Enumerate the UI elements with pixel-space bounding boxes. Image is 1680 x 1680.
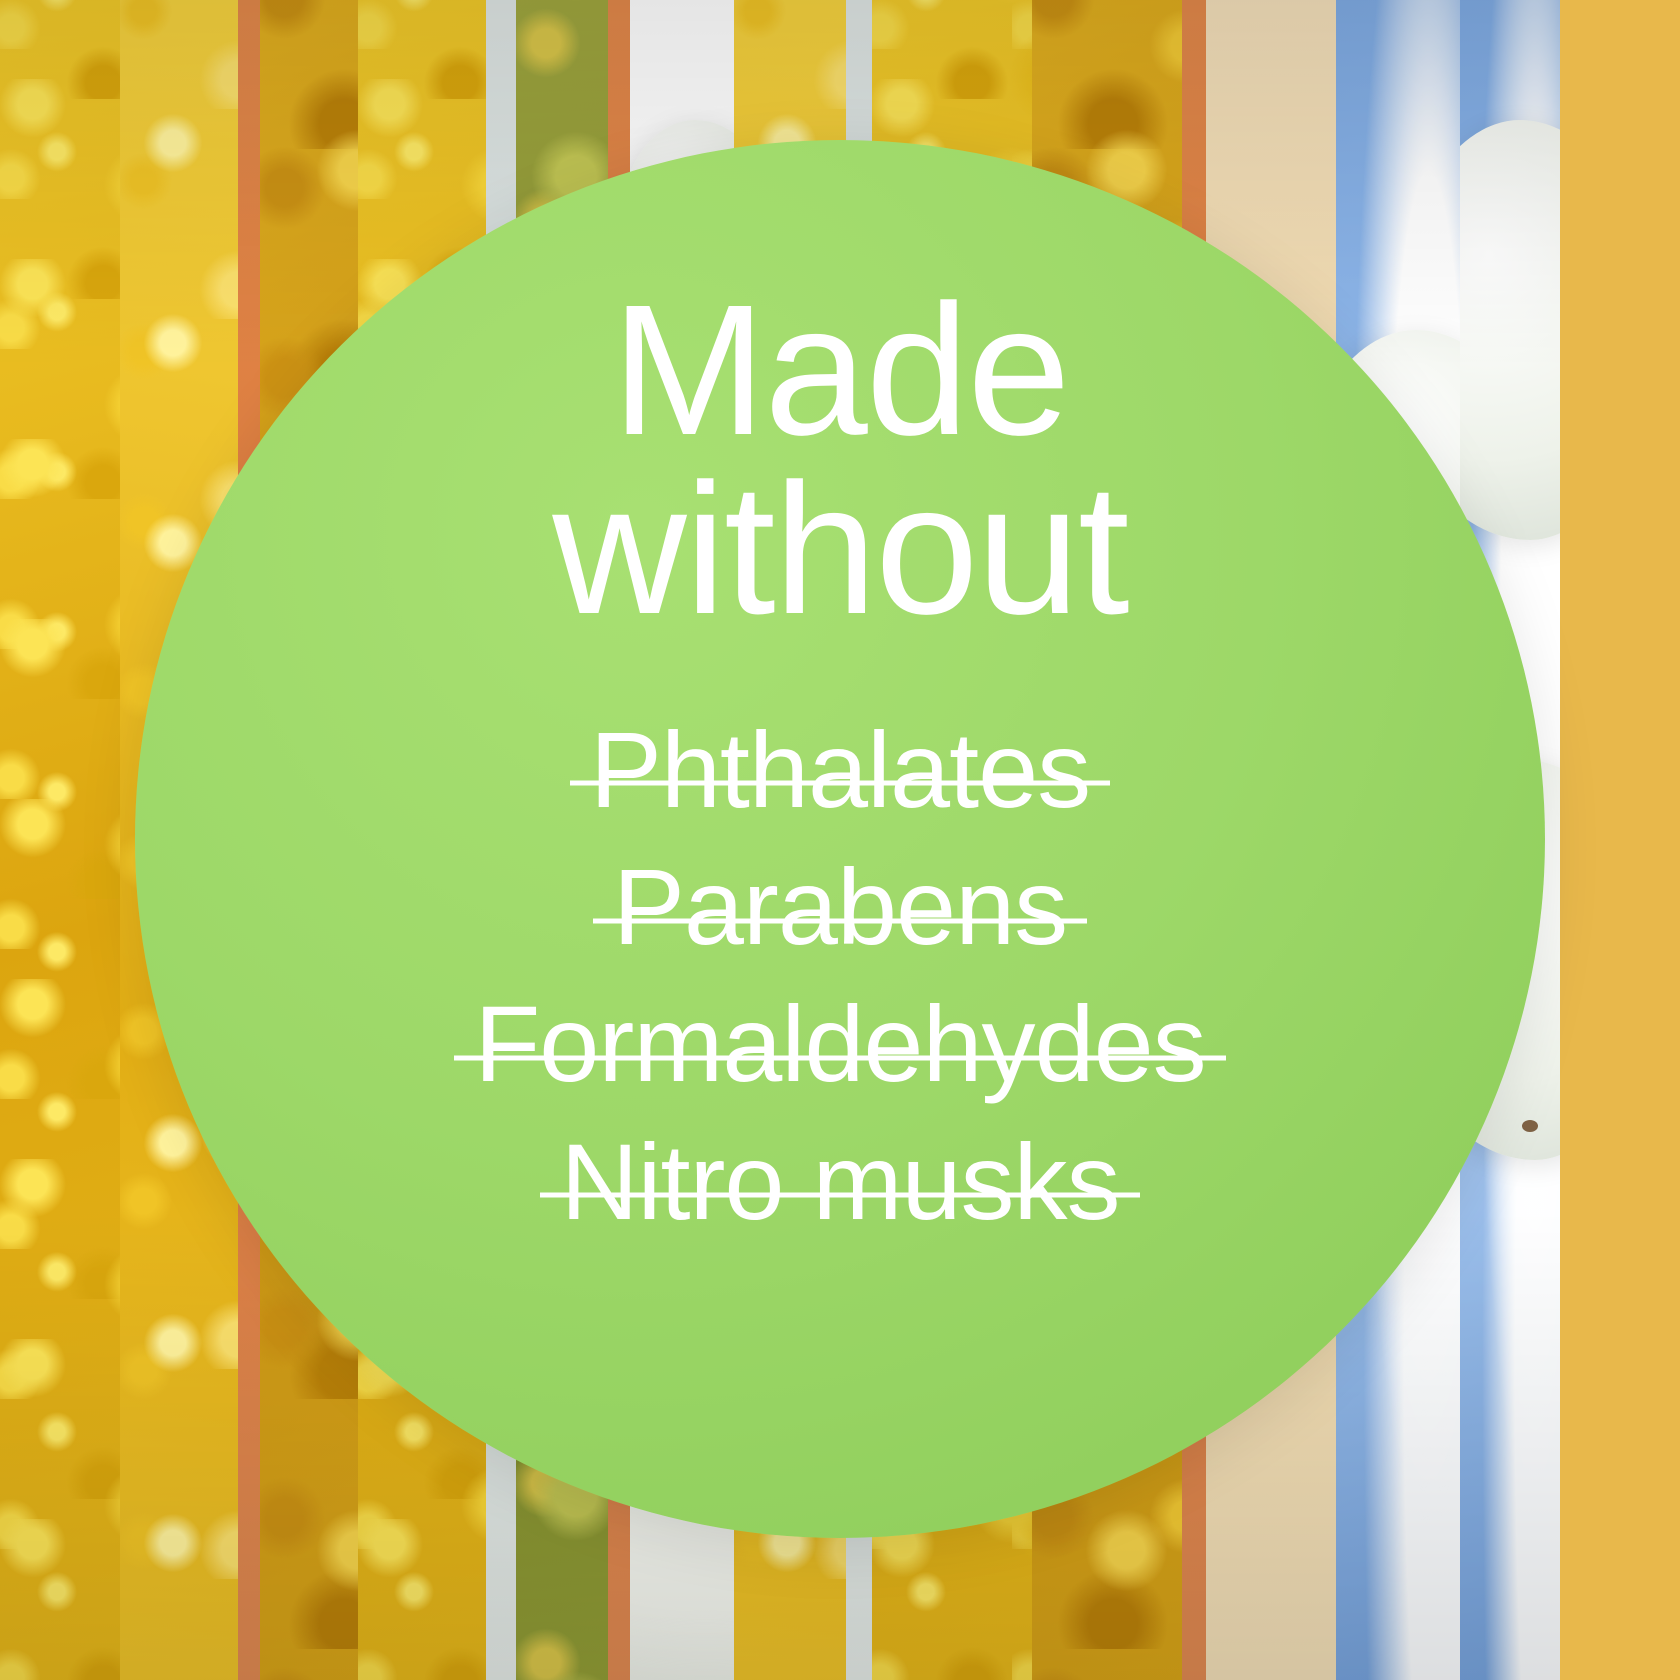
exclusion-label: Parabens [597, 838, 1083, 975]
exclusion-item-parabens: Parabens [135, 838, 1545, 975]
exclusion-label: Phthalates [574, 701, 1106, 838]
exclusion-item-phthalates: Phthalates [135, 701, 1545, 838]
mimosa-texture [0, 0, 120, 1680]
badge-graphic: Made without Phthalates Parabens Formald… [0, 0, 1680, 1680]
white-blossom [1460, 120, 1560, 540]
exclusion-label: Formaldehydes [458, 975, 1221, 1112]
exclusion-label: Nitro musks [544, 1113, 1135, 1250]
collage-strip [0, 0, 120, 1680]
green-circle-badge: Made without Phthalates Parabens Formald… [135, 140, 1545, 1538]
exclusion-list: Phthalates Parabens Formaldehydes Nitro … [135, 701, 1545, 1250]
exclusion-item-formaldehydes: Formaldehydes [135, 975, 1545, 1112]
exclusion-item-nitro-musks: Nitro musks [135, 1113, 1545, 1250]
